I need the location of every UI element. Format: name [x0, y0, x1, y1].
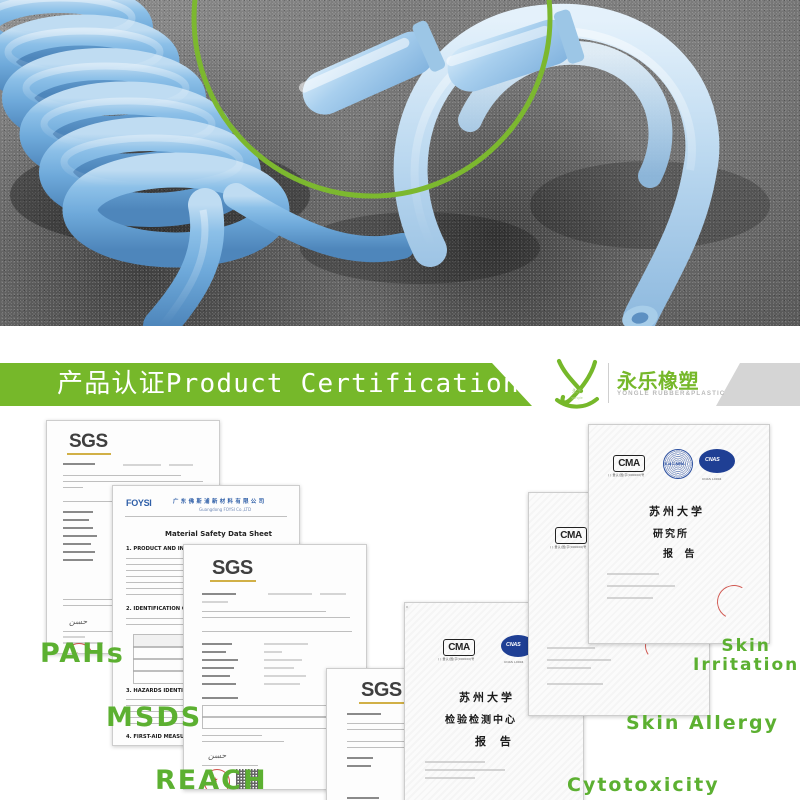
doc-line	[607, 597, 653, 599]
signature-rule	[63, 631, 119, 632]
doc-line	[202, 643, 232, 645]
cma-number: ( ) 量认(国)字(000000)号	[608, 473, 644, 477]
banner-grey-shape	[716, 363, 800, 406]
doc-line	[202, 611, 326, 612]
doc-line	[425, 761, 485, 763]
page-title: 产品认证Product Certification	[57, 363, 520, 406]
sgs-wordmark: SGS	[212, 557, 253, 580]
doc-line	[63, 475, 181, 476]
university-name: 苏州大学	[649, 503, 705, 519]
logo-divider	[608, 363, 609, 403]
doc-line	[547, 667, 591, 669]
doc-line	[264, 651, 282, 653]
doc-line	[347, 797, 379, 799]
product-certification-page: 产品认证Product Certification 永乐 yongle 永乐橡塑…	[0, 0, 800, 800]
institute-name: 研究所	[653, 525, 689, 540]
doc-line	[126, 594, 186, 595]
yongle-leaf-mark-icon: 永乐 yongle	[551, 357, 603, 411]
cnas-sub: CNAS L0004	[702, 477, 722, 481]
doc-line	[202, 683, 236, 685]
label-msds: MSDS	[106, 703, 202, 733]
doc-line	[202, 667, 234, 669]
doc-line	[347, 757, 373, 759]
hero-tubing-illustration	[0, 0, 800, 326]
logo-english-name: YONGLE RUBBER&PLASTIC	[617, 390, 725, 397]
msds-brand-logo: FOYSI	[126, 498, 152, 508]
doc-line	[202, 675, 230, 677]
doc-line	[63, 559, 93, 561]
cma-number: ( ) 量认(国)字(000000)号	[550, 545, 586, 549]
doc-line	[63, 463, 95, 465]
label-reach: REACH	[155, 766, 268, 796]
doc-line	[63, 599, 119, 600]
doc-line	[202, 631, 352, 632]
doc-line	[347, 765, 371, 767]
university-name: 苏州大学	[459, 689, 515, 705]
doc-line	[320, 593, 346, 595]
cnas-label: CNAS	[705, 457, 719, 463]
doc-line	[202, 617, 350, 618]
doc-line	[264, 675, 306, 677]
doc-line	[202, 593, 236, 595]
msds-company-cn: 广东佛斯浦新材料有限公司	[173, 497, 267, 505]
label-cytotoxicity: Cytotoxicity	[567, 775, 720, 796]
doc-line	[264, 667, 294, 669]
doc-line	[202, 741, 284, 742]
svg-text:永乐: 永乐	[572, 388, 582, 395]
svg-text:yongle: yongle	[571, 396, 582, 400]
doc-line	[268, 593, 312, 595]
doc-line	[425, 777, 475, 779]
msds-company-en: Guangdong FOYSI Co.,LTD	[199, 507, 251, 512]
doc-line	[264, 643, 308, 645]
doc-line	[63, 487, 83, 488]
certificate-cma-far-right[interactable]: CMA ( ) 量认(国)字(000000)号 ILAC-MRA CNAS CN…	[588, 424, 770, 644]
label-skin-irritation-line1: Skin	[693, 637, 799, 656]
test-center-name: 检验检测中心	[445, 711, 517, 726]
cma-mark-icon: CMA	[555, 527, 587, 544]
doc-line	[169, 464, 193, 466]
doc-rule	[125, 516, 287, 517]
label-pahs: PAHs	[40, 639, 125, 669]
doc-line	[264, 683, 300, 685]
doc-line	[63, 481, 203, 482]
certificate-ima-small[interactable]	[406, 606, 408, 608]
cma-mark-icon: CMA	[613, 455, 645, 472]
report-title-cn: 报 告	[663, 545, 698, 560]
doc-line	[123, 464, 161, 466]
doc-line	[202, 735, 262, 736]
doc-line	[607, 573, 659, 575]
signature: حسن	[69, 617, 87, 626]
doc-line	[202, 651, 226, 653]
sgs-wordmark: SGS	[69, 431, 108, 453]
certificate-collage: SGS حسن	[0, 406, 800, 800]
label-skin-allergy: Skin Allergy	[626, 713, 779, 734]
doc-line	[202, 697, 238, 699]
doc-line	[607, 585, 675, 587]
doc-line	[547, 683, 603, 685]
sgs-underline	[67, 453, 111, 455]
doc-line	[63, 551, 95, 553]
company-logo: 永乐 yongle 永乐橡塑 YONGLE RUBBER&PLASTIC	[551, 357, 711, 411]
doc-line	[63, 543, 91, 545]
ilac-label: ILAC-MRA	[665, 461, 685, 466]
doc-line	[547, 647, 595, 649]
doc-line	[63, 519, 89, 521]
cma-number: ( ) 量认(国)字(000000)号	[438, 657, 474, 661]
sgs-underline	[359, 702, 405, 704]
doc-line	[347, 713, 381, 715]
doc-line	[547, 659, 611, 661]
doc-line	[63, 527, 93, 529]
label-skin-irritation: Skin Irritation	[693, 637, 799, 675]
hero-product-photo	[0, 0, 800, 326]
report-title-cn: 报 告	[475, 733, 516, 749]
doc-line	[63, 535, 97, 537]
doc-line	[264, 659, 302, 661]
doc-line	[63, 511, 93, 513]
doc-line	[202, 601, 228, 603]
sgs-underline	[210, 580, 256, 582]
sgs-wordmark: SGS	[361, 679, 402, 702]
label-skin-irritation-line2: Irritation	[693, 656, 799, 675]
doc-line	[425, 769, 505, 771]
doc-line	[202, 659, 238, 661]
cma-mark-icon: CMA	[443, 639, 475, 656]
msds-title: Material Safety Data Sheet	[165, 530, 272, 538]
red-seal-arc	[713, 581, 755, 623]
cnas-sub: CNAS L0004	[504, 660, 524, 664]
signature: حسن	[208, 751, 226, 760]
cnas-label: CNAS	[506, 642, 520, 648]
